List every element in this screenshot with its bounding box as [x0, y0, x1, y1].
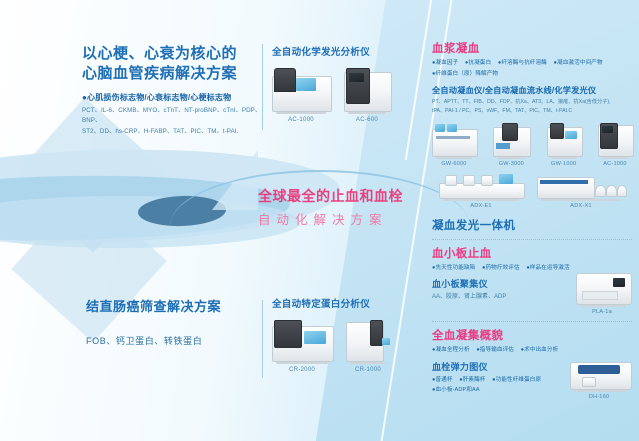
plasma-coagulation-section: 血浆凝血 ●凝血因子 ●抗凝蛋白 ●纤溶酶与抗纤溶酶 ●凝血激活中间产物 ●纤维… — [432, 40, 632, 233]
ac-1000-right-caption: AC-1000 — [598, 161, 632, 167]
gw-3000-illustration — [493, 123, 529, 157]
wholeblood-bullets: ●凝血全程分析 ●指导输血评估 ●术中出血分析 — [432, 346, 632, 356]
gw-6000-caption: GW-6000 — [432, 161, 476, 167]
platelet-bullet-2: ●药物疗效评估 — [482, 265, 520, 271]
device-gw-1000: GW-1000 — [547, 123, 581, 167]
platelet-bullet-3: ●样品在运导激活 — [526, 265, 569, 271]
platelet-codes: AA、胶原、肾上腺素、ADP — [432, 292, 572, 302]
adx-x1-illustration — [537, 173, 625, 199]
plasma-device-row-1: GW-6000 GW-3000 — [432, 123, 632, 167]
adx-x1-caption: ADX-X1 — [537, 203, 625, 209]
cardio-headline-line1: 以心梗、心衰为核心的 — [82, 44, 270, 64]
ac-600-illustration — [344, 68, 390, 112]
adx-e1-illustration — [439, 173, 523, 199]
gw-6000-illustration — [432, 123, 476, 157]
wholeblood-subbullet-4: ●血小板-ADP和AA — [432, 387, 480, 393]
ac-1000-right-illustration — [598, 123, 632, 157]
wholeblood-subbullets-row2: ●血小板-ADP和AA — [432, 386, 566, 396]
pla-1a-caption: PLA-1a — [572, 309, 632, 315]
plasma-codes-line1: PT、APTT、TT、FIB、DD、FDP、抗Xa、AT3、LA、狼疮、抗Xa(… — [432, 98, 632, 107]
device-ac-600: AC-600 — [344, 68, 390, 123]
plasma-bullet-1: ●凝血因子 — [432, 60, 458, 66]
wholeblood-title: 全血凝集概貌 — [432, 327, 632, 343]
plasma-bullet-4: ●凝血激活中间产物 — [554, 60, 603, 66]
divider-platelet — [432, 239, 632, 240]
cr-2000-illustration — [272, 320, 332, 362]
dh-160-caption: DH-160 — [566, 394, 632, 400]
cardio-markers-line2: ST2、DD、hs-CRP、H-FABP、TAT、PIC、TM、t-PAI. — [82, 127, 270, 138]
clia-analyzer-block: 全自动化学发光分析仪 AC-1000 AC-600 — [272, 44, 412, 123]
wholeblood-subbullet-1: ●普通杯 — [432, 377, 453, 383]
device-cr-2000: CR-2000 — [272, 320, 332, 373]
specific-protein-title: 全自动特定蛋白分析仪 — [272, 296, 412, 310]
center-slogan-banner: 全球最全的止血和血栓 自动化解决方案 — [258, 186, 438, 228]
platelet-equipment-heading: 血小板聚集仪 — [432, 277, 572, 290]
cardio-headline-line2: 心脑血管疾病解决方案 — [82, 64, 270, 84]
cr-2000-caption: CR-2000 — [289, 367, 315, 373]
right-column: 血浆凝血 ●凝血因子 ●抗凝蛋白 ●纤溶酶与抗纤溶酶 ●凝血激活中间产物 ●纤维… — [432, 40, 632, 404]
clia-device-row: AC-1000 AC-600 — [272, 68, 412, 123]
wholeblood-bullet-1: ●凝血全程分析 — [432, 347, 470, 353]
ac-1000-caption: AC-1000 — [288, 117, 314, 123]
plasma-device-row-2: ADX-E1 ADX-X1 — [432, 173, 632, 209]
cardio-solution-block: 以心梗、心衰为核心的 心脑血管疾病解决方案 ●心肌损伤标志物/心衰标志物/心梗标… — [82, 44, 270, 137]
colorectal-markers: FOB、钙卫蛋白、转铁蛋白 — [86, 334, 266, 347]
plasma-codes-line2: tPA、PAI-1 / PC、PS、vWF、FM、TAT、PIC、TM、t-PA… — [432, 107, 632, 116]
device-cr-1000: CR-1000 — [346, 320, 390, 373]
plasma-bullets-row1: ●凝血因子 ●抗凝蛋白 ●纤溶酶与抗纤溶酶 ●凝血激活中间产物 — [432, 59, 632, 69]
ac-1000-illustration — [272, 68, 330, 112]
platelet-bullet-1: ●先天性功能缺陷 — [432, 265, 475, 271]
gw-3000-caption: GW-3000 — [493, 161, 529, 167]
wholeblood-subbullet-3: ●功能性纤维蛋白原 — [492, 377, 541, 383]
wholeblood-bullet-3: ●术中出血分析 — [521, 347, 559, 353]
device-gw-3000: GW-3000 — [493, 123, 529, 167]
device-adx-e1: ADX-E1 — [439, 173, 523, 209]
plasma-equipment-heading: 全自动凝血仪/全自动凝血流水线/化学发光仪 — [432, 84, 632, 96]
specific-protein-device-row: CR-2000 CR-1000 — [272, 320, 412, 373]
device-ac-1000: AC-1000 — [272, 68, 330, 123]
cr-1000-caption: CR-1000 — [355, 367, 381, 373]
plasma-bullet-5: ●纤维蛋白（原）降解产物 — [432, 71, 498, 77]
wholeblood-bullet-2: ●指导输血评估 — [476, 347, 514, 353]
clia-title: 全自动化学发光分析仪 — [272, 44, 412, 58]
wholeblood-equipment-heading: 血栓弹力图仪 — [432, 360, 566, 373]
pla-1a-illustration — [576, 269, 630, 305]
cr-1000-illustration — [346, 320, 390, 362]
colorectal-solution-block: 结直肠癌筛查解决方案 FOB、钙卫蛋白、转铁蛋白 — [86, 298, 266, 347]
device-gw-6000: GW-6000 — [432, 123, 476, 167]
gw-1000-illustration — [547, 123, 581, 157]
slogan-line1: 全球最全的止血和血栓 — [258, 186, 438, 206]
ac-600-caption: AC-600 — [356, 117, 378, 123]
wholeblood-subbullets-row1: ●普通杯 ●肝素酶杯 ●功能性纤维蛋白原 — [432, 376, 566, 386]
device-adx-x1: ADX-X1 — [537, 173, 625, 209]
gw-1000-caption: GW-1000 — [547, 161, 581, 167]
plasma-bullet-3: ●纤溶酶与抗纤溶酶 — [498, 60, 547, 66]
cardio-bullet: ●心肌损伤标志物/心衰标志物/心梗标志物 — [82, 92, 270, 103]
wholeblood-section: 全血凝集概貌 ●凝血全程分析 ●指导输血评估 ●术中出血分析 血栓弹力图仪 ●普… — [432, 327, 632, 400]
wholeblood-subbullet-2: ●肝素酶杯 — [459, 377, 485, 383]
platelet-title: 血小板止血 — [432, 245, 632, 261]
poster-canvas: 以心梗、心衰为核心的 心脑血管疾病解决方案 ●心肌损伤标志物/心衰标志物/心梗标… — [0, 0, 639, 441]
colorectal-title: 结直肠癌筛查解决方案 — [86, 298, 266, 316]
adx-e1-caption: ADX-E1 — [439, 203, 523, 209]
plasma-title: 血浆凝血 — [432, 40, 632, 56]
coag-clia-combo-title: 凝血发光一体机 — [432, 217, 632, 233]
specific-protein-block: 全自动特定蛋白分析仪 CR-2000 CR-1000 — [272, 296, 412, 373]
platelet-section: 血小板止血 ●先天性功能缺陷 ●药物疗效评估 ●样品在运导激活 血小板聚集仪 A… — [432, 245, 632, 316]
cardio-markers-line1: PCT、IL-6、CKMB、MYO、cTnT、NT-proBNP、cTnI、PD… — [82, 106, 270, 127]
dh-160-illustration — [570, 358, 630, 390]
slogan-line2: 自动化解决方案 — [258, 209, 438, 228]
device-ac-1000-right: AC-1000 — [598, 123, 632, 167]
divider-wholeblood — [432, 321, 632, 322]
plasma-bullet-2: ●抗凝蛋白 — [465, 60, 491, 66]
plasma-bullets-row2: ●纤维蛋白（原）降解产物 — [432, 70, 632, 80]
